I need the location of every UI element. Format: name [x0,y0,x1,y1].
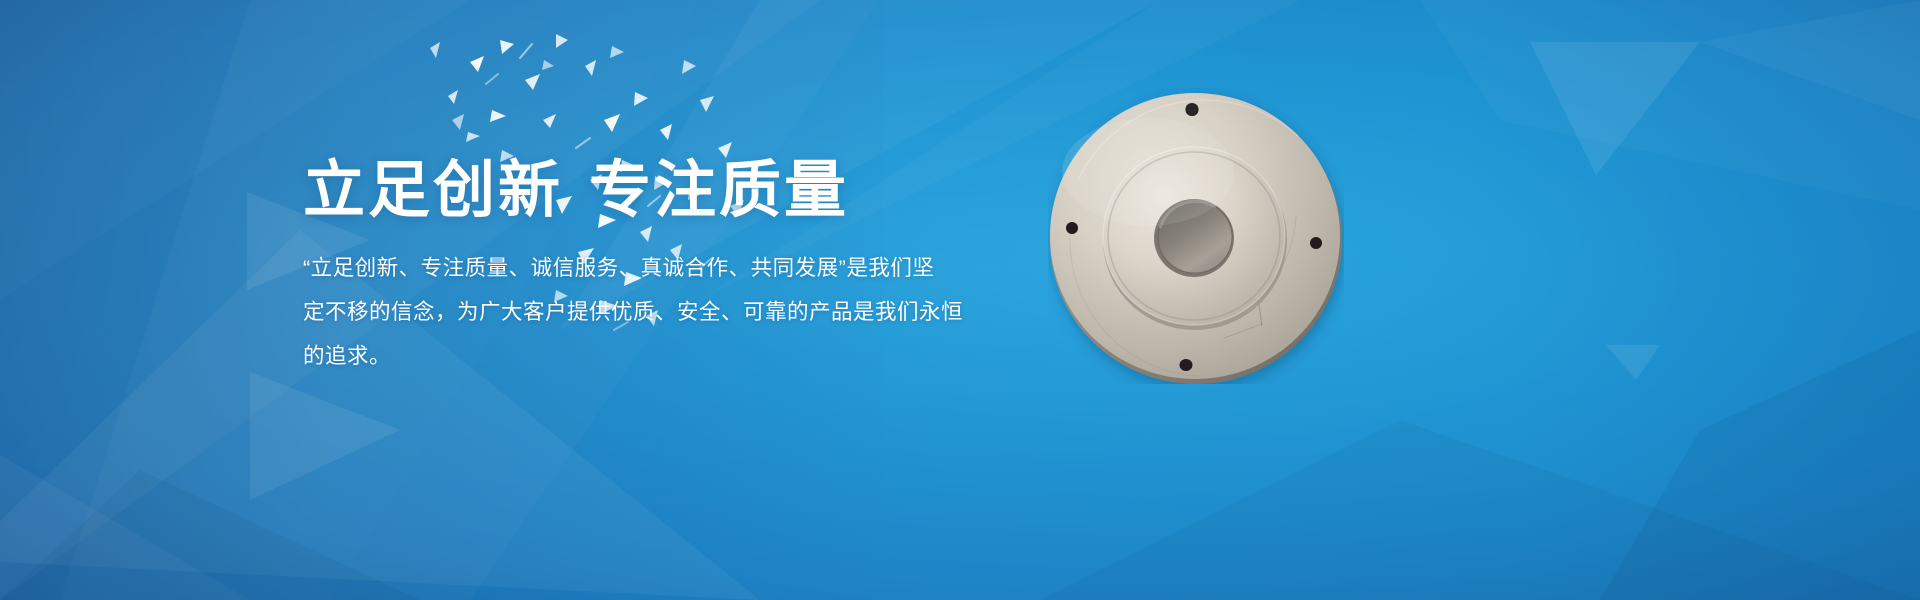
product-flange-image [1048,88,1344,384]
headline-part-1: 立足创新 [303,156,563,225]
description-line-2: 定不移的信念，为广大客户提供优质、安全、可靠的产品是我们永恒 [303,290,953,334]
description-line-1: “立足创新、专注质量、诚信服务、真诚合作、共同发展”是我们坚 [303,246,953,290]
banner-description: “立足创新、专注质量、诚信服务、真诚合作、共同发展”是我们坚 定不移的信念，为广… [303,246,953,378]
banner-headline: 立足创新专注质量 [303,160,849,222]
hero-banner: 立足创新专注质量 “立足创新、专注质量、诚信服务、真诚合作、共同发展”是我们坚 … [0,0,1920,600]
headline-part-2: 专注质量 [589,156,849,225]
description-line-3: 的追求。 [303,334,953,378]
